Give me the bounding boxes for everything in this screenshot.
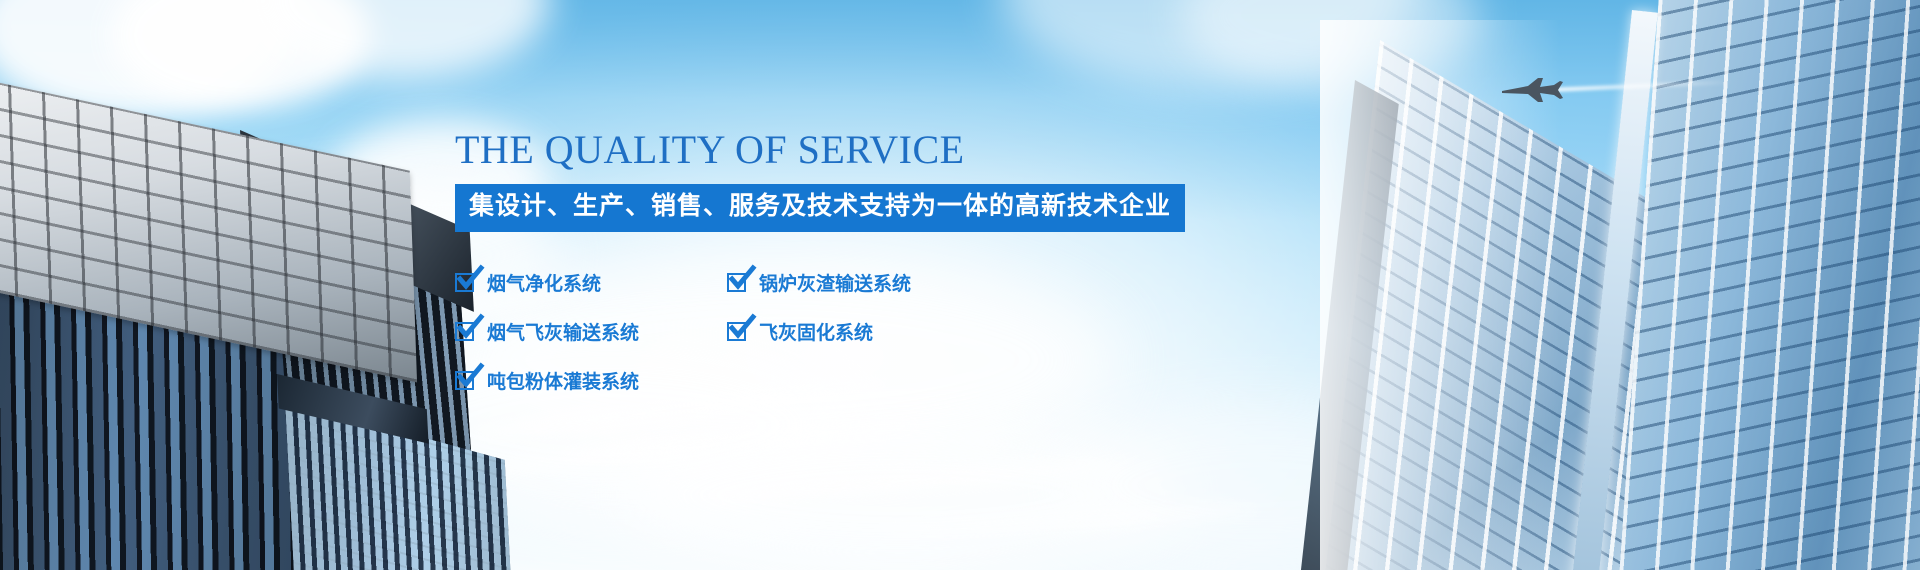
feature-label: 烟气飞灰输送系统: [487, 318, 639, 345]
headline-english: THE QUALITY OF SERVICE: [455, 130, 1215, 170]
feature-item[interactable]: 锅炉灰渣输送系统: [727, 269, 999, 296]
checkbox-checked-icon: [455, 322, 474, 341]
checkbox-checked-icon: [455, 371, 474, 390]
feature-label: 烟气净化系统: [487, 269, 601, 296]
feature-item[interactable]: 烟气飞灰输送系统: [455, 318, 727, 345]
right-glass-skyscraper: [1260, 20, 1920, 570]
checkbox-checked-icon: [727, 273, 746, 292]
feature-label: 飞灰固化系统: [759, 318, 873, 345]
subheadline-bar: 集设计、生产、销售、服务及技术支持为一体的高新技术企业: [455, 184, 1185, 232]
feature-label: 吨包粉体灌装系统: [487, 367, 639, 394]
feature-item[interactable]: 飞灰固化系统: [727, 318, 999, 345]
airplane-icon: [1498, 72, 1568, 112]
feature-item[interactable]: 吨包粉体灌装系统: [455, 367, 727, 394]
background-office-tower: [285, 400, 505, 570]
checkbox-checked-icon: [455, 273, 474, 292]
banner-content: THE QUALITY OF SERVICE 集设计、生产、销售、服务及技术支持…: [455, 130, 1215, 394]
feature-label: 锅炉灰渣输送系统: [759, 269, 911, 296]
hero-banner: THE QUALITY OF SERVICE 集设计、生产、销售、服务及技术支持…: [0, 0, 1920, 570]
feature-item[interactable]: 烟气净化系统: [455, 269, 727, 296]
checkbox-checked-icon: [727, 322, 746, 341]
feature-list: 烟气净化系统 锅炉灰渣输送系统 烟气飞灰输送系统 飞灰固化系统: [455, 269, 1215, 394]
